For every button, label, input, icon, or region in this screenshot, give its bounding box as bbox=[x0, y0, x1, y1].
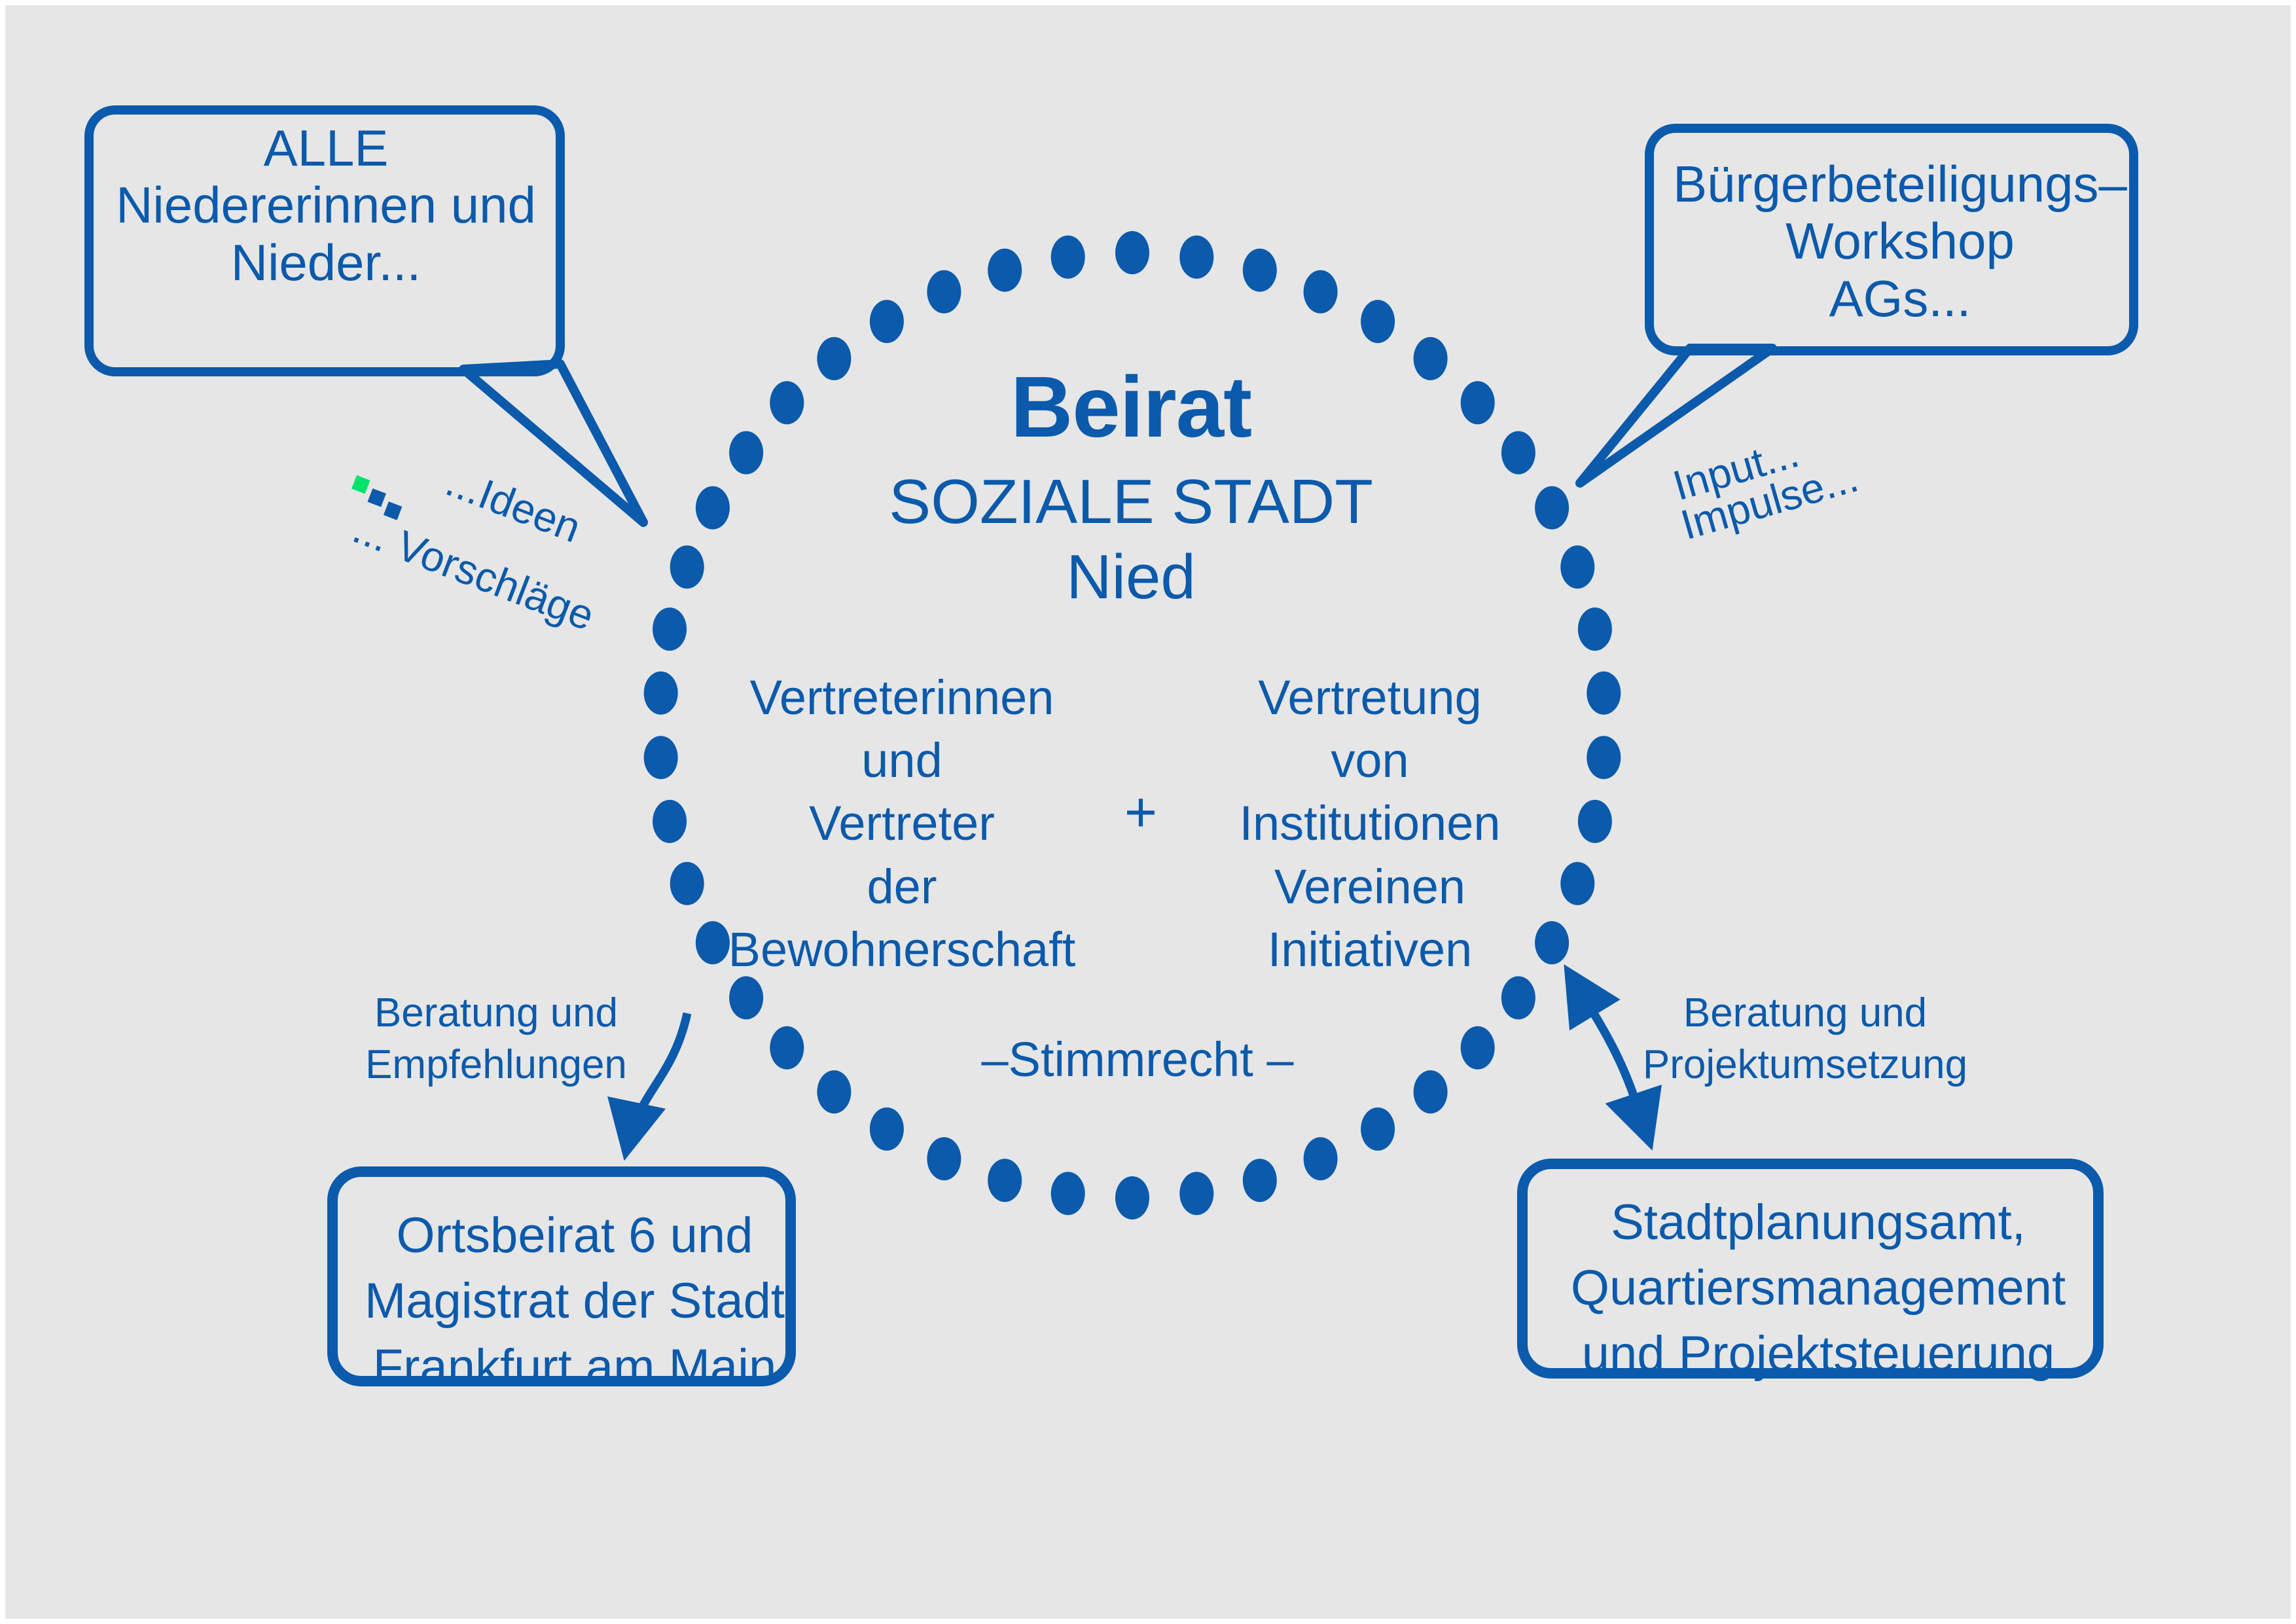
ring-dot bbox=[870, 300, 904, 343]
ring-dot bbox=[1501, 976, 1535, 1019]
ring-dot bbox=[927, 1137, 961, 1180]
bubble-top-right-text: Bürgerbeteiligungs–WorkshopAGs... bbox=[1668, 156, 2132, 327]
ring-dot bbox=[644, 736, 678, 779]
ring-dot bbox=[1501, 431, 1535, 475]
ring-dot bbox=[644, 672, 678, 715]
stimmrecht-note: –Stimmrecht – bbox=[889, 1033, 1386, 1087]
member-column-right: VertretungvonInstitutionenVereinenInitia… bbox=[1187, 666, 1553, 981]
ring-dot bbox=[927, 270, 961, 314]
arrow-label-bottom-right: Beratung undProjektumsetzung bbox=[1635, 987, 1975, 1091]
bubble-top-left-text: ALLENiedererinnen undNieder... bbox=[84, 120, 568, 291]
ring-dot bbox=[1587, 736, 1621, 779]
ring-dot bbox=[670, 545, 704, 588]
ring-dot bbox=[1304, 1137, 1338, 1180]
subtitle-line-1: SOZIALE STADT bbox=[771, 467, 1491, 537]
ring-dot bbox=[1179, 1172, 1213, 1215]
ring-dot bbox=[988, 249, 1022, 292]
ring-dot bbox=[870, 1108, 904, 1151]
ring-dot bbox=[653, 607, 687, 651]
box-bottom-right-text: Stadtplanungsamt,Quartiersmanagementund … bbox=[1537, 1190, 2100, 1387]
ring-dot bbox=[1243, 1159, 1277, 1202]
ring-dot bbox=[1414, 1070, 1448, 1113]
ring-dot bbox=[729, 976, 763, 1019]
ring-dot bbox=[1051, 1172, 1085, 1215]
box-bottom-left-text: Ortsbeirat 6 undMagistrat der StadtFrank… bbox=[346, 1203, 804, 1400]
ring-dot bbox=[988, 1159, 1022, 1202]
plus-icon: + bbox=[1105, 781, 1177, 844]
ring-dot bbox=[1535, 486, 1569, 530]
ring-dot bbox=[696, 486, 730, 530]
ring-dot bbox=[653, 800, 687, 843]
ring-dot bbox=[1243, 249, 1277, 292]
ring-dot bbox=[1578, 800, 1612, 843]
subtitle-line-2: Nied bbox=[771, 542, 1491, 613]
ring-dot bbox=[1361, 1108, 1395, 1151]
ring-dot bbox=[1304, 270, 1338, 314]
ring-dot bbox=[817, 1070, 851, 1113]
ring-dot bbox=[1560, 862, 1594, 905]
ring-dot bbox=[1461, 1026, 1495, 1070]
ring-dot bbox=[1179, 236, 1213, 279]
ring-dot bbox=[1560, 545, 1594, 588]
ring-dot bbox=[1115, 1176, 1149, 1219]
ring-dot bbox=[1361, 300, 1395, 343]
page-title: Beirat bbox=[771, 359, 1491, 456]
ring-dot bbox=[729, 431, 763, 475]
ring-dot bbox=[1115, 231, 1149, 274]
ring-dot bbox=[770, 1026, 804, 1070]
arrow-label-bottom-left: Beratung undEmpfehlungen bbox=[359, 987, 634, 1091]
arrow-beratung-empfehlungen bbox=[627, 1013, 687, 1147]
ring-dot bbox=[1587, 672, 1621, 715]
diagram-canvas: ALLENiedererinnen undNieder... Bürgerbet… bbox=[5, 5, 2291, 1619]
member-column-left: VertreterinnenundVertreterderBewohnersch… bbox=[699, 666, 1105, 981]
ring-dot bbox=[1578, 607, 1612, 651]
ring-dot bbox=[1051, 236, 1085, 279]
